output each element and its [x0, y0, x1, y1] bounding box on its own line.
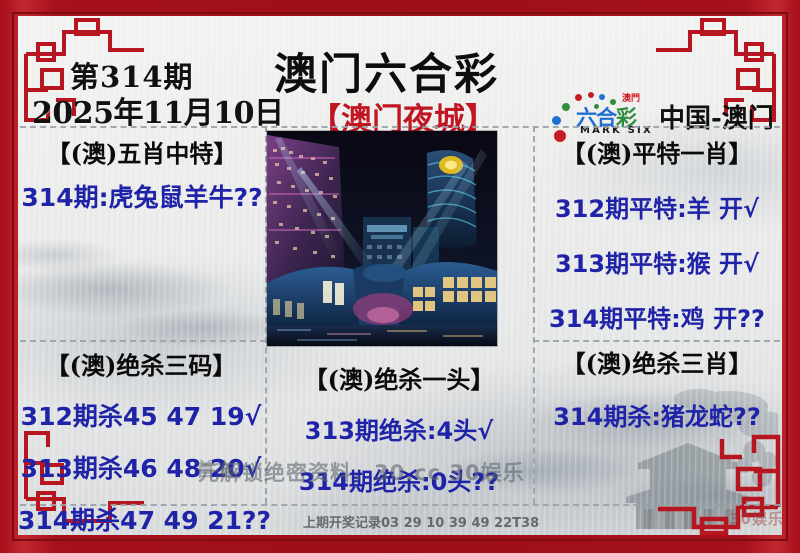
panel-pingte-yixiao: 【(澳)平特一肖】 312期平特:羊 开√ 313期平特:猴 开√ 314期平特… [534, 132, 780, 334]
panel-line: 314期平特:鸡 开?? [534, 299, 780, 334]
logo-dot [562, 103, 570, 111]
panel-title: 【(澳)绝杀三肖】 [534, 344, 780, 379]
panel-line: 313期绝杀:4头√ [266, 411, 532, 446]
panel-juesha-sanxiao: 【(澳)绝杀三肖】 314期杀:猪龙蛇?? [534, 344, 780, 432]
poster-header: 第314期 2025年11月10日 澳门六合彩 【澳门夜城】 中国-澳门 澳門 … [22, 18, 778, 122]
divider-horizontal-left-mid [20, 340, 266, 342]
logo-dot [575, 94, 582, 101]
panel-title: 【(澳)五肖中特】 [20, 134, 264, 169]
panel-line: 314期:虎兔鼠羊牛?? [20, 178, 264, 214]
logo-dot [552, 116, 561, 125]
panel-line: 313期平特:猴 开√ [534, 244, 780, 279]
panel-title: 【(澳)平特一肖】 [534, 134, 780, 169]
previous-draw-record: 上期开奖记录03 29 10 39 49 22T38 [303, 512, 539, 531]
page-title: 澳门六合彩 [274, 40, 499, 102]
panel-title: 【(澳)绝杀三码】 [18, 346, 264, 381]
divider-horizontal-top [20, 126, 780, 128]
panel-line: 312期平特:羊 开√ [534, 189, 780, 224]
tile-watermark: 30娱乐 [729, 508, 784, 529]
panel-line: 312期杀45 47 19√ [18, 397, 264, 433]
panel-wuxiao-zhongte: 【(澳)五肖中特】 314期:虎兔鼠羊牛?? [20, 132, 264, 214]
panel-title: 【(澳)绝杀一头】 [266, 360, 532, 395]
panel-line: 314期杀:猪龙蛇?? [534, 397, 780, 432]
macau-night-skyline-photo [267, 131, 497, 346]
divider-horizontal-right-mid [533, 340, 780, 342]
logo-dot [588, 92, 594, 98]
promo-watermark: 元解锁绝密资料，30.cc 30娱乐 [198, 457, 525, 487]
region-label: 中国-澳门 [659, 98, 774, 135]
panel-juesha-sanma: 【(澳)绝杀三码】 312期杀45 47 19√ 313期杀46 48 20√ … [18, 346, 264, 537]
lottery-poster: 第314期 2025年11月10日 澳门六合彩 【澳门夜城】 中国-澳门 澳門 … [0, 0, 800, 553]
logo-dot [599, 94, 605, 100]
panel-line: 314期杀47 49 21?? [18, 501, 264, 537]
